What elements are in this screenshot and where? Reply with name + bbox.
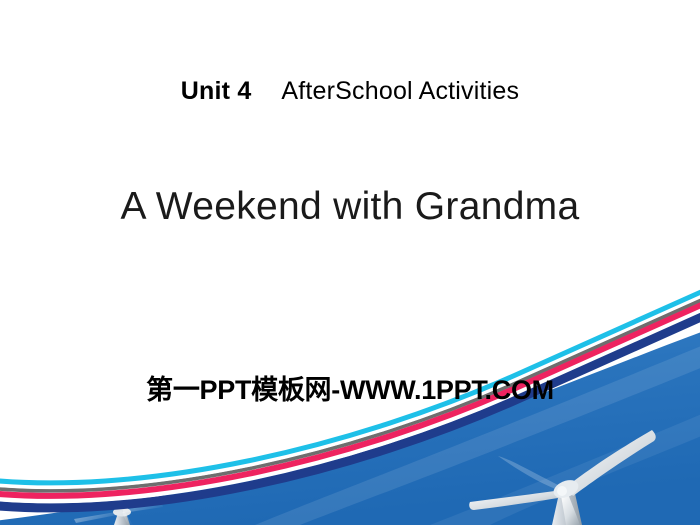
unit-number-label: Unit 4 (181, 77, 252, 105)
turbine-right-hub (557, 486, 567, 496)
unit-topic-label: AfterSchool Activities (281, 77, 519, 105)
presentation-slide: Unit 4 AfterSchool Activities A Weekend … (0, 0, 700, 525)
watermark-text: 第一PPT模板网-WWW.1PPT.COM (0, 374, 700, 406)
unit-heading: Unit 4 AfterSchool Activities (0, 74, 700, 108)
slide-title: A Weekend with Grandma (0, 182, 700, 232)
